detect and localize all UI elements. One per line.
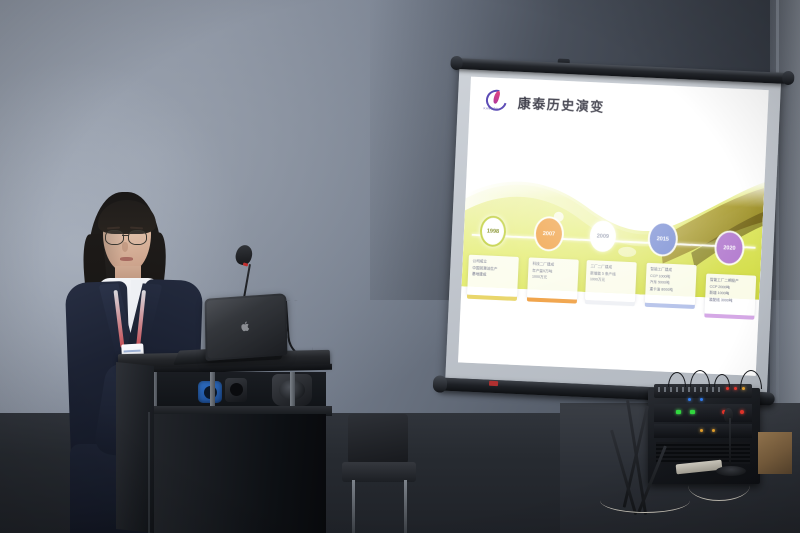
card3-line3: 1000万元: [590, 278, 632, 285]
screen-top-cap-left: [450, 56, 463, 71]
podium-post-middle: [210, 372, 215, 410]
chair-leg-left: [352, 480, 355, 533]
screen-surface: KANGTAI 康泰历史演变: [458, 77, 769, 376]
cardboard-box: [758, 432, 792, 474]
card1-line3: 基地建成: [472, 272, 514, 279]
floor-cable-2: [600, 488, 690, 513]
floor-cable-1: [688, 470, 750, 501]
av-rack-unit-middle[interactable]: [654, 404, 752, 422]
info-card-2: 科技二厂建成 年产量5万吨 1000万元: [527, 257, 579, 299]
desk-microphone-stem: [729, 418, 731, 468]
av-led-red-4: [740, 410, 744, 414]
chair-leg-right: [404, 480, 407, 533]
podium-edge-highlight: [148, 412, 150, 533]
projected-slide: KANGTAI 康泰历史演变: [458, 77, 769, 376]
apple-logo-icon: [241, 319, 251, 331]
av-led-red-1: [726, 387, 729, 390]
timeline-year-3: 2009: [589, 220, 616, 252]
timeline-node-3: 2009: [583, 220, 622, 253]
card1-accent-bar: [467, 295, 517, 301]
timeline-node-1: 1998: [473, 215, 512, 248]
timeline-year-2: 2007: [535, 218, 562, 250]
av-led-amber-2: [700, 429, 703, 432]
presentation-room-photo: KANGTAI 康泰历史演变: [0, 0, 800, 533]
screen-frame: KANGTAI 康泰历史演变: [445, 66, 781, 392]
card4-line4: 重卡油 8000吨: [649, 287, 691, 294]
chair-backrest: [348, 414, 408, 464]
screen-top-cap-right: [782, 71, 795, 86]
info-card-4: 智能工厂建成 CCP 1000吨 汽车 5000吨 重卡油 8000吨: [645, 263, 697, 305]
podium-front-panel: [150, 414, 326, 533]
av-rack-knob-row[interactable]: [658, 387, 720, 392]
info-card-3: 三厂二厂建成 新增装 5 条产线 1000万元: [585, 260, 637, 302]
av-led-green-1: [676, 410, 681, 414]
av-led-green-2: [690, 410, 695, 414]
mouth: [120, 257, 133, 261]
camera-lens-aperture: [230, 383, 243, 396]
screen-bottom-cap: [433, 375, 448, 393]
screen-brand-tag: [489, 381, 498, 386]
logo-wordmark: KANGTAI: [483, 106, 498, 111]
chair-seat: [342, 462, 416, 482]
timeline-node-4: 2015: [643, 223, 682, 256]
card5-accent-bar: [704, 313, 754, 319]
nose: [122, 242, 128, 252]
projector-screen-assembly: KANGTAI 康泰历史演变: [442, 54, 787, 414]
apple-logo-svg: [241, 321, 251, 333]
av-rack-unit-lower[interactable]: [654, 424, 752, 438]
kangtai-logo-icon: KANGTAI: [483, 89, 510, 112]
info-card-5: 智能工厂二期投产 CCP 2000吨 新增 1000吨 装配线 3000吨: [704, 273, 756, 315]
slide-header: KANGTAI 康泰历史演变: [483, 89, 605, 116]
card2-line3: 1000万元: [532, 275, 574, 282]
card4-accent-bar: [645, 303, 695, 309]
badge-line-1: [124, 350, 141, 352]
info-card-1: 公司成立 中国润滑油生产 基地建成: [467, 255, 519, 297]
eyeglasses-bridge: [122, 235, 129, 236]
card5-line4: 装配线 3000吨: [709, 298, 751, 305]
timeline-year-1: 1998: [479, 215, 506, 247]
eyeglasses-lens-right: [128, 230, 147, 245]
card3-accent-bar: [585, 300, 635, 306]
timeline-year-4: 2015: [649, 223, 676, 255]
av-led-blue-2: [700, 398, 703, 401]
av-led-blue-1: [688, 398, 691, 401]
av-led-red-2: [734, 387, 737, 390]
podium-post-right: [290, 372, 295, 410]
timeline-node-5: 2020: [710, 232, 749, 265]
slide-title: 康泰历史演变: [517, 92, 605, 115]
eyeglasses-lens-left: [105, 230, 124, 245]
slide-info-cards: 公司成立 中国润滑油生产 基地建成 科技二厂建成 年产量5万吨 1000万元: [460, 254, 761, 333]
timeline-node-2: 2007: [529, 217, 568, 250]
timeline-year-5: 2020: [716, 232, 743, 264]
card2-accent-bar: [527, 297, 577, 303]
av-led-amber-3: [712, 429, 715, 432]
